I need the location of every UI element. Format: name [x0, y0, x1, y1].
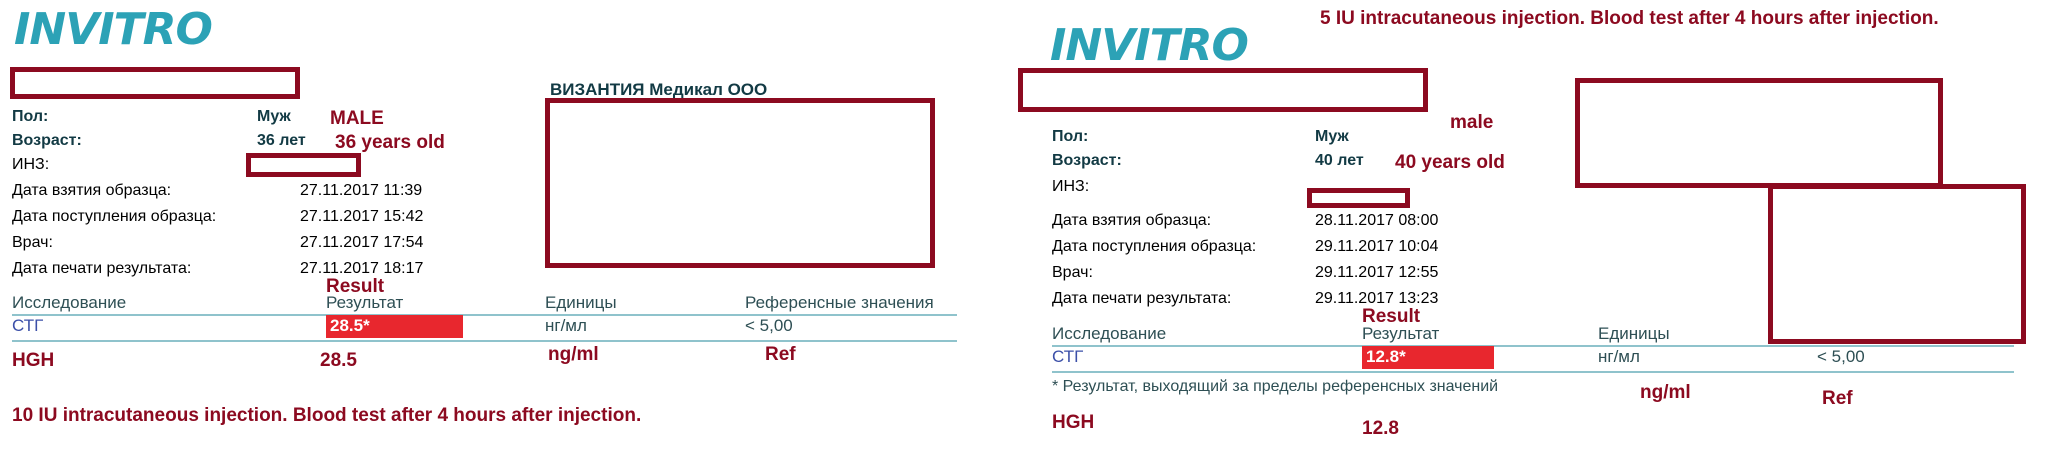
invitro-logo-right: INVITRO	[1050, 24, 1248, 68]
left-lab-report: INVITRO ВИЗАНТИЯ Медикал ООО Пол: Муж MA…	[0, 0, 1010, 458]
value-doctor-right: 29.11.2017 12:55	[1315, 264, 1438, 282]
inz-redaction-left	[246, 153, 361, 177]
value-date-received-right: 29.11.2017 10:04	[1315, 238, 1438, 256]
table-cell-units-left: нг/мл	[545, 316, 587, 336]
label-doctor-left: Врач:	[12, 234, 53, 252]
label-inz-right: ИНЗ:	[1052, 178, 1089, 196]
label-date-taken-right: Дата взятия образца:	[1052, 212, 1211, 230]
value-age-left: 36 лет	[257, 132, 306, 150]
organization-details-redaction-right	[1575, 78, 1943, 188]
value-date-taken-left: 27.11.2017 11:39	[300, 182, 422, 200]
table-cell-test-right: СТГ	[1052, 347, 1083, 367]
value-age-right: 40 лет	[1315, 152, 1364, 170]
patient-name-redaction-right	[1018, 68, 1428, 112]
label-doctor-right: Врач:	[1052, 264, 1093, 282]
annotation-reference-en-right: Ref	[1822, 388, 1853, 410]
table-top-rule-right	[1052, 345, 2014, 347]
reference-redaction-right	[1768, 184, 2026, 344]
label-date-received-right: Дата поступления образца:	[1052, 238, 1256, 256]
annotation-result-value-en-left: 28.5	[320, 350, 357, 372]
inz-redaction-right	[1307, 188, 1410, 208]
annotation-test-en-left: HGH	[12, 350, 54, 372]
value-date-taken-right: 28.11.2017 08:00	[1315, 212, 1438, 230]
annotation-age-en-right: 40 years old	[1395, 152, 1505, 174]
annotation-reference-en-left: Ref	[765, 344, 796, 366]
invitro-logo-left: INVITRO	[14, 8, 212, 52]
table-header-units-left: Единицы	[545, 293, 617, 313]
annotation-units-en-left: ng/ml	[548, 344, 599, 366]
table-cell-units-right: нг/мл	[1598, 347, 1640, 367]
organization-details-redaction-left	[545, 98, 935, 268]
table-cell-result-right: 12.8*	[1362, 346, 1494, 369]
annotation-sex-en-left: MALE	[330, 108, 384, 130]
patient-name-redaction-left	[10, 67, 300, 99]
value-sex-right: Муж	[1315, 128, 1349, 146]
annotation-injection-note-left: 10 IU intracutaneous injection. Blood te…	[12, 405, 641, 427]
label-date-printed-left: Дата печати результата:	[12, 260, 191, 278]
table-cell-result-left: 28.5*	[326, 315, 463, 338]
label-sex-right: Пол:	[1052, 128, 1088, 146]
table-header-reference-left: Референсные значения	[745, 293, 934, 313]
organization-name-left: ВИЗАНТИЯ Медикал ООО	[550, 80, 767, 100]
annotation-test-en-right: HGH	[1052, 412, 1094, 434]
annotation-units-en-right: ng/ml	[1640, 382, 1691, 404]
table-top-rule-left	[12, 314, 957, 316]
label-inz-left: ИНЗ:	[12, 156, 49, 174]
annotation-sex-en-right: male	[1450, 112, 1493, 134]
label-date-printed-right: Дата печати результата:	[1052, 290, 1231, 308]
table-header-test-right: Исследование	[1052, 324, 1166, 344]
label-age-left: Возраст:	[12, 132, 82, 150]
annotation-result-value-en-right: 12.8	[1362, 418, 1399, 440]
annotation-injection-note-right: 5 IU intracutaneous injection. Blood tes…	[1320, 8, 1939, 30]
value-date-received-left: 27.11.2017 15:42	[300, 208, 423, 226]
label-date-received-left: Дата поступления образца:	[12, 208, 216, 226]
table-header-result-left: Результат	[326, 293, 403, 313]
label-sex-left: Пол:	[12, 108, 48, 126]
table-bottom-rule-left	[12, 340, 957, 342]
value-sex-left: Муж	[257, 108, 291, 126]
label-age-right: Возраст:	[1052, 152, 1122, 170]
table-bottom-rule-right	[1052, 371, 2014, 373]
value-doctor-left: 27.11.2017 17:54	[300, 234, 423, 252]
label-date-taken-left: Дата взятия образца:	[12, 182, 171, 200]
table-header-test-left: Исследование	[12, 293, 126, 313]
table-cell-reference-right: < 5,00	[1817, 347, 1865, 367]
table-cell-test-left: СТГ	[12, 316, 43, 336]
right-lab-report: INVITRO 5 IU intracutaneous injection. B…	[1010, 0, 2060, 458]
table-cell-reference-left: < 5,00	[745, 316, 793, 336]
annotation-age-en-left: 36 years old	[335, 132, 445, 154]
table-header-result-right: Результат	[1362, 324, 1439, 344]
table-footnote-right: * Результат, выходящий за пределы рефере…	[1052, 378, 1498, 396]
table-header-units-right: Единицы	[1598, 324, 1670, 344]
